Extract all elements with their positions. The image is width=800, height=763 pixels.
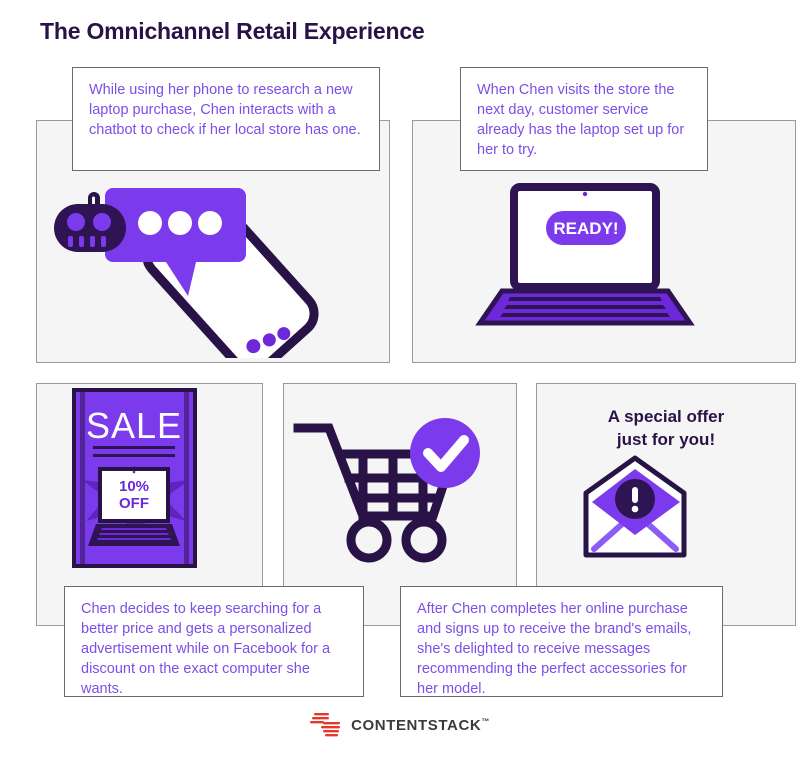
step-caption-2: When Chen visits the store the next day,… <box>460 67 708 171</box>
infographic-root: The Omnichannel Retail Experience <box>0 0 800 763</box>
step-caption-1: While using her phone to research a new … <box>72 67 380 171</box>
typing-dot-3 <box>198 211 222 235</box>
special-offer-heading: A special offer just for you! <box>536 405 796 451</box>
chatbot-phone-illustration <box>48 178 348 363</box>
open-envelope-alert-illustration <box>580 455 690 565</box>
sale-ad-illustration: SALE 10% OFF <box>72 388 197 573</box>
typing-dot-2 <box>168 211 192 235</box>
sale-discount-line1: 10% <box>119 478 149 495</box>
checkmark-badge <box>410 418 480 488</box>
contentstack-wordmark: CONTENTSTACK™ <box>351 717 490 734</box>
typing-dot-1 <box>138 211 162 235</box>
offer-heading-line1: A special offer <box>536 405 796 428</box>
laptop-screen-label: READY! <box>553 219 618 238</box>
laptop-ready-illustration: READY! <box>462 183 708 334</box>
sale-headline: SALE <box>86 405 182 446</box>
brand-name: CONTENTSTACK <box>351 717 481 734</box>
step-caption-3: Chen decides to keep searching for a bet… <box>64 586 364 697</box>
shopping-cart-check-illustration <box>293 412 493 572</box>
sale-discount-line2: OFF <box>119 495 149 512</box>
page-title: The Omnichannel Retail Experience <box>40 18 425 45</box>
trademark-symbol: ™ <box>481 717 490 726</box>
step-caption-4: After Chen completes her online purchase… <box>400 586 723 697</box>
contentstack-logo: CONTENTSTACK™ <box>0 712 800 738</box>
offer-heading-line2: just for you! <box>536 428 796 451</box>
contentstack-stack-logo-icon <box>310 712 342 738</box>
